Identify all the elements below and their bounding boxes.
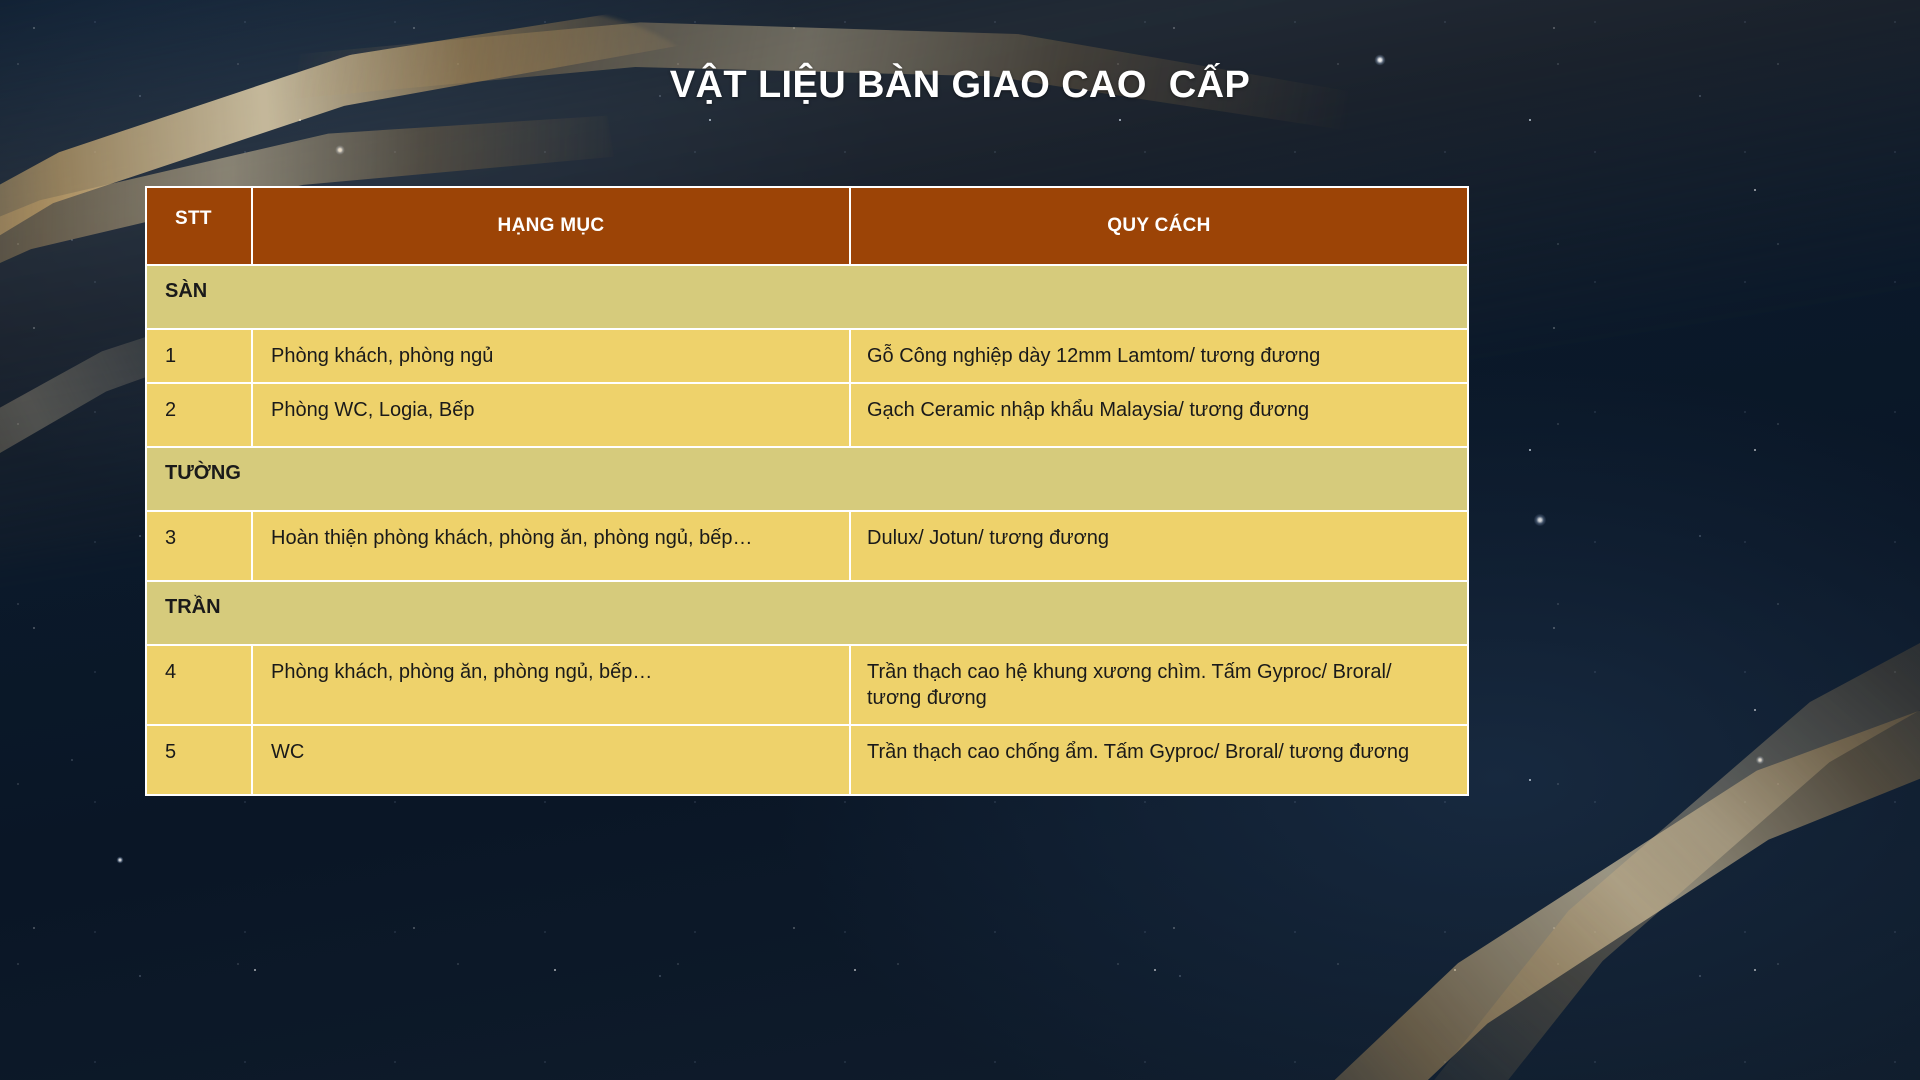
- table-section-row: TRẦN: [147, 582, 1467, 644]
- cell-stt: 2: [147, 384, 251, 446]
- cell-hang-muc: Phòng khách, phòng ngủ: [253, 330, 849, 382]
- materials-table: STT HẠNG MỤC QUY CÁCH SÀN1Phòng khách, p…: [145, 186, 1469, 796]
- table-row: 5WCTrần thạch cao chống ẩm. Tấm Gyproc/ …: [147, 726, 1467, 794]
- cell-quy-cach: Trần thạch cao hệ khung xương chìm. Tấm …: [851, 646, 1467, 724]
- slide-content: VẬT LIỆU BÀN GIAO CAO CẤP STT HẠNG MỤC Q…: [0, 0, 1920, 1080]
- table-row: 3Hoàn thiện phòng khách, phòng ăn, phòng…: [147, 512, 1467, 580]
- cell-quy-cach: Gạch Ceramic nhập khẩu Malaysia/ tương đ…: [851, 384, 1467, 446]
- cell-stt: 4: [147, 646, 251, 724]
- table-header-row: STT HẠNG MỤC QUY CÁCH: [147, 188, 1467, 264]
- materials-table-container: STT HẠNG MỤC QUY CÁCH SÀN1Phòng khách, p…: [145, 186, 1461, 796]
- page-title: VẬT LIỆU BÀN GIAO CAO CẤP: [0, 64, 1920, 107]
- cell-hang-muc: Phòng WC, Logia, Bếp: [253, 384, 849, 446]
- column-header-hang-muc: HẠNG MỤC: [253, 188, 849, 264]
- cell-stt: 5: [147, 726, 251, 794]
- table-section-row: SÀN: [147, 266, 1467, 328]
- table-body: SÀN1Phòng khách, phòng ngủGỗ Công nghiệp…: [147, 266, 1467, 794]
- cell-quy-cach: Dulux/ Jotun/ tương đương: [851, 512, 1467, 580]
- section-label: TƯỜNG: [147, 448, 1467, 510]
- section-label: SÀN: [147, 266, 1467, 328]
- cell-stt: 1: [147, 330, 251, 382]
- cell-quy-cach: Trần thạch cao chống ẩm. Tấm Gyproc/ Bro…: [851, 726, 1467, 794]
- cell-stt: 3: [147, 512, 251, 580]
- cell-quy-cach: Gỗ Công nghiệp dày 12mm Lamtom/ tương đư…: [851, 330, 1467, 382]
- table-header: STT HẠNG MỤC QUY CÁCH: [147, 188, 1467, 264]
- table-row: 4Phòng khách, phòng ăn, phòng ngủ, bếp…T…: [147, 646, 1467, 724]
- column-header-quy-cach: QUY CÁCH: [851, 188, 1467, 264]
- cell-hang-muc: WC: [253, 726, 849, 794]
- table-row: 2Phòng WC, Logia, BếpGạch Ceramic nhập k…: [147, 384, 1467, 446]
- column-header-stt: STT: [147, 188, 251, 264]
- table-row: 1Phòng khách, phòng ngủGỗ Công nghiệp dà…: [147, 330, 1467, 382]
- section-label: TRẦN: [147, 582, 1467, 644]
- cell-hang-muc: Phòng khách, phòng ăn, phòng ngủ, bếp…: [253, 646, 849, 724]
- table-section-row: TƯỜNG: [147, 448, 1467, 510]
- cell-hang-muc: Hoàn thiện phòng khách, phòng ăn, phòng …: [253, 512, 849, 580]
